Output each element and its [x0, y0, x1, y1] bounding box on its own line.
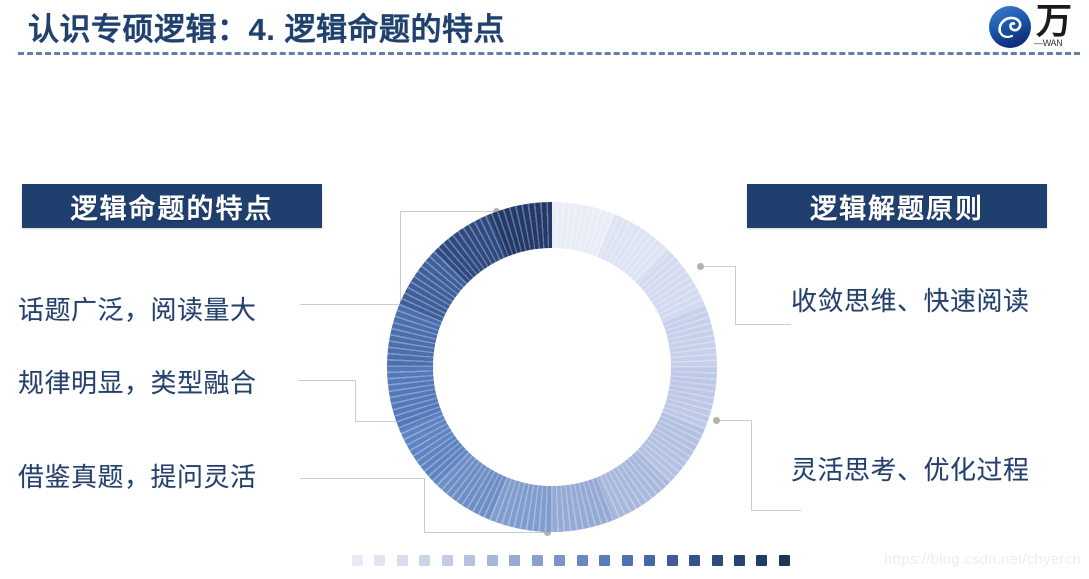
- gradient-square-strip: [352, 553, 790, 567]
- logo-wordmark: 万: [1036, 2, 1089, 40]
- section-banner-left: 逻辑命题的特点: [22, 184, 322, 228]
- page-title: 认识专硕逻辑：4. 逻辑命题的特点: [28, 4, 505, 49]
- feature-left-3: 借鉴真题，提问灵活: [18, 457, 257, 494]
- strip-square-5: [442, 555, 453, 566]
- section-banner-right: 逻辑解题原则: [747, 184, 1047, 228]
- donut-chart: [387, 202, 717, 532]
- strip-square-12: [599, 555, 610, 566]
- strip-square-10: [554, 555, 565, 566]
- connector-left-2-vertical: [355, 381, 356, 422]
- connector-left-2-tail: [298, 380, 356, 381]
- connector-right-2-tail: [751, 510, 801, 511]
- connector-left-3-horizontal: [424, 532, 548, 533]
- brand-logo: 万 —WAN: [988, 2, 1089, 52]
- watermark: https://blog.csdn.net/chyercn: [884, 551, 1081, 568]
- strip-square-14: [644, 555, 655, 566]
- feature-right-1: 收敛思维、快速阅读: [791, 281, 1030, 318]
- strip-square-3: [397, 555, 408, 566]
- strip-square-1: [352, 555, 363, 566]
- strip-square-6: [464, 555, 475, 566]
- strip-square-19: [756, 555, 767, 566]
- connector-right-2-horizontal: [716, 420, 752, 421]
- feature-right-2: 灵活思考、优化过程: [791, 450, 1030, 487]
- strip-square-13: [622, 555, 633, 566]
- strip-square-18: [734, 555, 745, 566]
- strip-square-20: [779, 555, 790, 566]
- strip-square-8: [509, 555, 520, 566]
- title-divider: [18, 52, 1080, 55]
- strip-square-16: [689, 555, 700, 566]
- swirl-circle-logo-icon: [988, 5, 1032, 49]
- connector-left-1-tail: [300, 304, 400, 305]
- strip-square-7: [487, 555, 498, 566]
- donut-center-hole: [433, 248, 671, 486]
- strip-square-11: [577, 555, 588, 566]
- strip-square-2: [374, 555, 385, 566]
- strip-square-9: [532, 555, 543, 566]
- strip-square-17: [712, 555, 723, 566]
- feature-left-2: 规律明显，类型融合: [18, 363, 257, 400]
- connector-right-1-vertical: [735, 266, 736, 325]
- connector-right-2-vertical: [751, 420, 752, 511]
- logo-subtext: —WAN: [1034, 38, 1089, 48]
- connector-right-1-tail: [735, 324, 791, 325]
- feature-left-1: 话题广泛，阅读量大: [18, 290, 257, 327]
- strip-square-4: [419, 555, 430, 566]
- strip-square-15: [667, 555, 678, 566]
